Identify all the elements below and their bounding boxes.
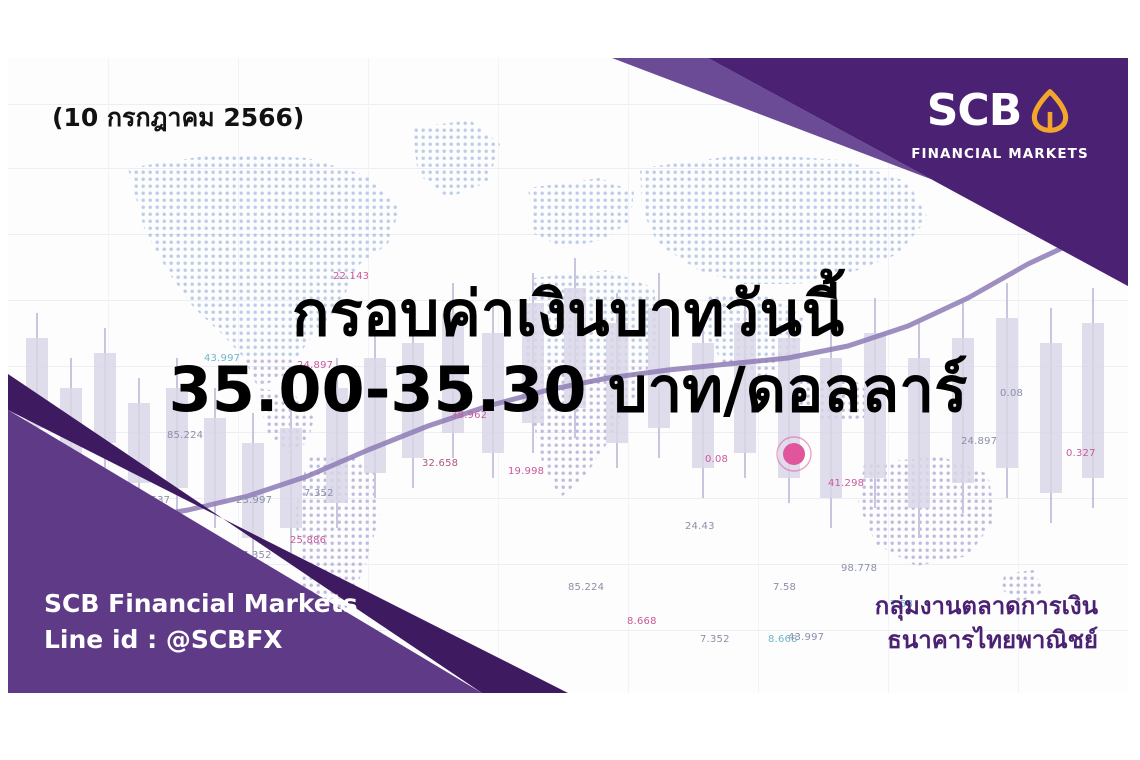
- chart-value-label: 19.998: [508, 466, 544, 477]
- poster-canvas: 22.14343.99724.89785.22499.53723.99738.9…: [0, 0, 1140, 760]
- chart-value-label: 0.08: [705, 454, 728, 465]
- chart-value-label: 41.298: [828, 478, 864, 489]
- chart-value-label: 24.43: [685, 521, 715, 532]
- headline-block: กรอบค่าเงินบาทวันนี้ 35.00-35.30 บาท/ดอล…: [8, 276, 1128, 427]
- chart-value-label: 25.886: [290, 535, 326, 546]
- headline-line-2: 35.00-35.30 บาท/ดอลลาร์: [8, 352, 1128, 428]
- chart-value-label: 24.897: [961, 436, 997, 447]
- chart-value-label: 23.997: [236, 495, 272, 506]
- footer-line-id: Line id : @SCBFX: [44, 622, 358, 658]
- date-label: (10 กรกฎาคม 2566): [52, 98, 304, 138]
- chart-value-label: 98.778: [841, 563, 877, 574]
- chart-value-label: 7.352: [304, 488, 334, 499]
- footer-department-line-1: กลุ่มงานตลาดการเงิน: [875, 589, 1098, 623]
- chart-value-label: 7.58: [773, 582, 796, 593]
- footer-department: กลุ่มงานตลาดการเงิน ธนาคารไทยพาณิชย์: [875, 589, 1098, 657]
- chart-value-label: 8.668: [627, 616, 657, 627]
- headline-line-1: กรอบค่าเงินบาทวันนี้: [8, 276, 1128, 352]
- footer-brand-name: SCB Financial Markets: [44, 586, 358, 622]
- footer-contact: SCB Financial Markets Line id : @SCBFX: [44, 586, 358, 657]
- announcement-card: 22.14343.99724.89785.22499.53723.99738.9…: [8, 58, 1128, 693]
- chart-value-label: 0.327: [1066, 448, 1096, 459]
- chart-value-label: 85.224: [167, 430, 203, 441]
- chart-value-label: 7.352: [700, 634, 730, 645]
- footer-department-line-2: ธนาคารไทยพาณิชย์: [875, 623, 1098, 657]
- chart-value-label: 43.997: [788, 632, 824, 643]
- chart-value-label: 32.658: [422, 458, 458, 469]
- chart-value-label: 85.224: [568, 582, 604, 593]
